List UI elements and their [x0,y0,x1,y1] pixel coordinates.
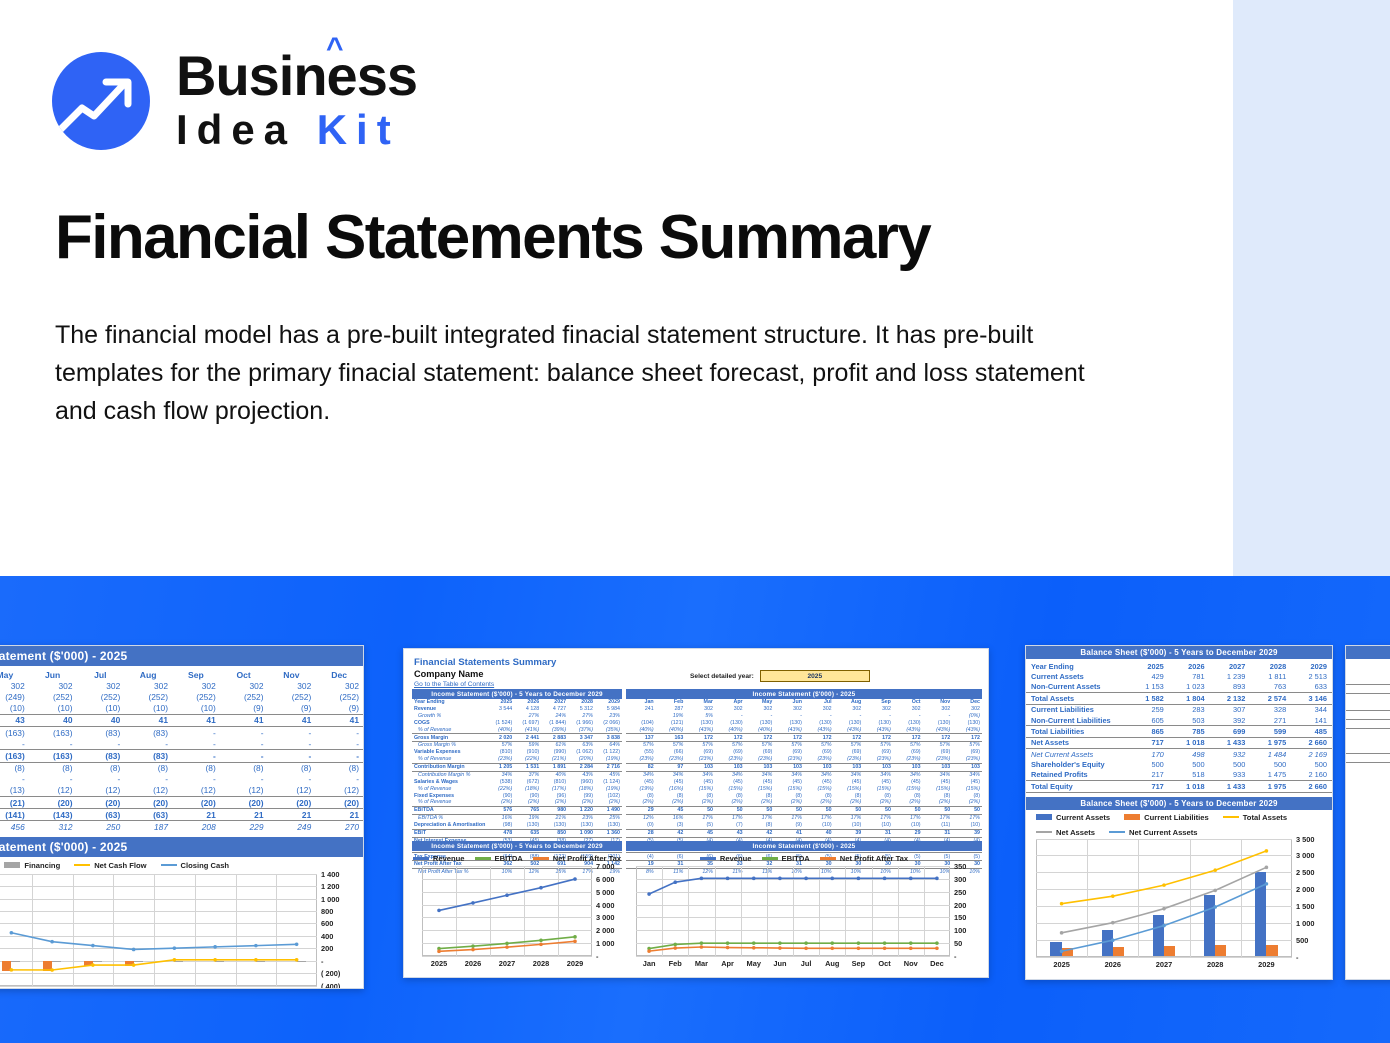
table-cell: 1 975 [1250,737,1291,748]
x-axis-tick: 2026 [1091,960,1135,969]
table-cell [626,713,656,720]
table-cell: - [0,774,29,785]
table-cell: (2%) [514,799,541,806]
income-statement-monthly-title: Income Statement ($'000) - 2025 [626,689,982,699]
balance-sheet-body: Current Assets4297811 2391 8112 513Non-C… [1026,671,1332,792]
table-cell: (10) [124,703,172,715]
table-cell: - [268,726,316,738]
table-row: Non-Current Liabilities605503392271141 [1026,715,1332,726]
table-cell: 23% [595,713,622,720]
y-axis-tick: 200 [321,944,333,953]
row-label: % of Revenue [412,786,487,793]
table-cell: 17% [893,815,923,822]
table-of-contents-link[interactable]: Go to the Table of Contents [414,681,988,688]
table-cell: (8) [952,792,982,799]
balance-sheet-partial-card[interactable]: Jan 1 1741241 297936927865121 0815001251… [1345,645,1390,980]
table-cell: 2 020 [487,734,514,742]
table-row: Gross Margin %57%59%61%63%64% [412,742,622,749]
table-cell: (35%) [595,727,622,734]
cash-flow-chart-plot: 1 4001 2001 000800600400200-( 200)( 400)… [0,874,317,986]
table-cell: 2 660 [1291,737,1332,748]
row-label: % of Revenue [412,727,487,734]
table-cell: 93 [1346,693,1390,701]
table-cell: 786 [1346,710,1390,719]
table-cell: (15%) [923,786,953,793]
table-cell: 1 205 [487,763,514,771]
income-statement-5y-chart-title: Income Statement ($'000) - 5 Years to De… [412,841,622,851]
table-cell: (19%) [595,756,622,763]
table-cell: (8) [0,762,29,774]
table-cell: (43%) [834,727,864,734]
table-cell: (5) [685,822,715,829]
balance-sheet-screenshot-card[interactable]: Balance Sheet ($'000) - 5 Years to Decem… [1025,645,1333,980]
table-cell: (20) [268,797,316,809]
table-cell: (37%) [568,727,595,734]
table-cell: 1 433 [1210,781,1251,792]
table-cell: (9) [220,703,268,715]
table-cell: (10) [29,703,77,715]
table-cell: 1 490 [595,807,622,815]
table-cell: (163) [29,726,77,738]
table-cell: (1 697) [514,720,541,727]
col-header-may: May [0,669,29,680]
table-cell: 865 [1128,726,1169,737]
income-statement-5y-title: Income Statement ($'000) - 5 Years to De… [412,689,622,699]
legend-label: Total Assets [1243,813,1287,822]
table-cell: 34% [834,771,864,778]
table-row: (8)(8)(8)(8)(8)(8)(8)(8) [0,762,363,774]
table-cell: 1 804 [1169,693,1210,704]
table-cell: (66) [656,749,686,756]
table-cell: (252) [172,691,220,702]
summary-header: Financial Statements Summary Company Nam… [404,649,988,688]
table-cell: (672) [514,779,541,786]
table-cell: 41 [220,714,268,726]
table-cell: (8) [804,792,834,799]
table-cell: - [804,713,834,720]
table-cell: (69) [804,749,834,756]
table-cell: 21 [315,809,363,821]
col-header-aug: Aug [124,669,172,680]
legend-item-current-liabilities: Current Liabilities [1124,813,1209,822]
table-cell: 3 838 [595,734,622,742]
table-cell: (130) [595,822,622,829]
table-cell: (2%) [715,799,745,806]
table-cell: (40%) [745,727,775,734]
y-axis-tick: 300 [954,875,966,884]
select-detailed-year-input[interactable]: 2025 [760,670,870,682]
table-cell: - [715,713,745,720]
table-cell: 57% [685,742,715,749]
table-row: (10)(10)(10)(10)(10)(9)(9)(9) [0,703,363,715]
table-cell: (8) [923,792,953,799]
col-header-sep: Sep [172,669,220,680]
table-cell: 2 574 [1250,693,1291,704]
table-cell: - [124,774,172,785]
table-cell: 1 531 [514,763,541,771]
col-header-oct: Oct [893,699,923,706]
table-cell: - [315,726,363,738]
brand-accent-caret: ^ [326,34,343,64]
table-cell: (10) [77,703,125,715]
table-cell: 2 441 [514,734,541,742]
balance-sheet-chart-legend: Current AssetsCurrent LiabilitiesTotal A… [1026,810,1332,838]
table-cell: (15%) [745,786,775,793]
table-cell: 103 [952,763,982,771]
table-cell: 1 023 [1169,682,1210,693]
table-cell: (45) [685,779,715,786]
table-cell: 45% [595,771,622,778]
hero-section: Business ^ Idea Kit Financial Statements… [0,0,1390,576]
table-cell: (1 122) [595,749,622,756]
x-axis-tick: 2027 [1142,960,1186,969]
hero-tint-panel [1233,0,1390,576]
table-row: (141)(143)(63)(63)21212121 [0,809,363,821]
table-cell: 503 [1169,715,1210,726]
table-cell: (130) [804,720,834,727]
gridline-h [636,956,950,957]
table-cell: (69) [863,749,893,756]
table-row: 124 [1346,676,1390,684]
table-cell: 34% [923,771,953,778]
brand-word-business: Business [176,44,417,107]
legend-item-ebitda: EBITDA [762,854,810,863]
table-cell: (23%) [745,756,775,763]
brand-name-line2: Idea Kit [176,106,417,154]
col-header-jun: Jun [774,699,804,706]
table-cell: (15%) [685,786,715,793]
table-cell: (12) [77,785,125,797]
x-axis-tick: 2029 [1244,960,1288,969]
table-cell: 50 [804,807,834,815]
table-cell: 34% [893,771,923,778]
table-cell: 302 [685,706,715,713]
table-cell: (8) [863,792,893,799]
table-cell: 172 [774,734,804,742]
table-row: Depreciation & Amortisation(98)(130)(130… [412,822,622,829]
table-cell: 763 [1250,682,1291,693]
table-cell: 34% [774,771,804,778]
y-axis-tick: 1 000 [1296,919,1315,928]
row-label: Non-Current Assets [1026,682,1128,693]
table-cell: 41 [124,714,172,726]
y-axis-tick: 1 400 [321,870,340,879]
table-cell: 21 [172,809,220,821]
table-cell: 781 [1169,671,1210,681]
table-cell: (83) [77,750,125,762]
table-cell: - [834,713,864,720]
table-row: (163)(163)(83)(83)---- [0,726,363,738]
table-row: COGS(1 524)(1 697)(1 844)(1 966)(2 066) [412,720,622,727]
row-label: Shareholder's Equity [1026,759,1128,769]
brand-name-line1: Business ^ [176,48,417,104]
table-cell: 3 347 [568,734,595,742]
table-cell: (20) [124,797,172,809]
y-axis-tick: 800 [321,907,333,916]
col-header-jan: Jan [626,699,656,706]
table-row: (249)(252)(252)(252)(252)(252)(252)(252) [0,691,363,702]
table-cell: (90) [487,792,514,799]
cash-flow-screenshot-card[interactable]: Cash Flow Statement ($'000) - 2025 May J… [0,645,364,989]
table-cell: 42 [656,829,686,837]
x-axis-tick: Dec [915,959,959,968]
table-cell: (252) [268,691,316,702]
table-cell: (130) [745,720,775,727]
row-label: Growth % [412,713,487,720]
table-row: 284245434241403931293139 [626,829,982,837]
table-cell: 27% [514,713,541,720]
table-cell: - [172,774,220,785]
table-cell: 41 [268,714,316,726]
table-cell: (102) [595,792,622,799]
table-cell: 34% [804,771,834,778]
table-cell: 312 [29,821,77,833]
table-cell: - [893,713,923,720]
table-cell: (15%) [863,786,893,793]
table-cell: (43%) [863,727,893,734]
col-header-jun: Jun [29,669,77,680]
table-cell: (69) [745,749,775,756]
table-cell: 2 660 [1291,781,1332,792]
legend-label: EBITDA [495,854,523,863]
table-cell: 500 [1128,759,1169,769]
balance-sheet-partial-table: Jan 1 1741241 297936927865121 0815001251… [1346,661,1390,763]
table-cell: (810) [487,749,514,756]
table-cell: (8) [315,762,363,774]
table-row: Current Liabilities259283307328344 [1026,704,1332,715]
table-cell: 302 [77,680,125,691]
table-cell: 57% [745,742,775,749]
table-cell: (69) [774,749,804,756]
table-cell: 5 312 [568,706,595,713]
table-cell: (8) [893,792,923,799]
table-cell: 302 [863,706,893,713]
table-cell: - [0,738,29,750]
table-cell: (40%) [626,727,656,734]
table-cell: (130) [541,822,568,829]
table-cell: (45) [893,779,923,786]
financial-summary-screenshot-card[interactable]: Financial Statements Summary Company Nam… [403,648,989,978]
balance-sheet-table: Year Ending 2025 2026 2027 2028 2029 Cur… [1026,661,1332,793]
table-cell: (45) [745,779,775,786]
table-cell: 31 [923,829,953,837]
row-label: Total Equity [1026,781,1128,792]
col-header-jan: Jan [1346,661,1390,668]
table-cell: (104) [626,720,656,727]
table-cell: (2%) [626,799,656,806]
table-cell: (9) [774,822,804,829]
table-cell: - [172,738,220,750]
table-cell: 103 [774,763,804,771]
table-row: Net Current Assets1704989321 4842 169 [1026,749,1332,760]
table-cell: 50 [715,807,745,815]
table-cell: (2%) [923,799,953,806]
table-cell: 287 [656,706,686,713]
table-cell: (141) [0,809,29,821]
table-cell: 1 081 [1346,728,1390,736]
row-label: Total Assets [1026,693,1128,704]
table-cell: 37% [514,771,541,778]
table-cell: (15%) [893,786,923,793]
table-cell: 302 [172,680,220,691]
table-cell: - [315,750,363,762]
legend-swatch [413,857,429,859]
table-cell: (69) [952,749,982,756]
table-cell: 302 [315,680,363,691]
table-cell: (8) [656,792,686,799]
col-header-2027: 2027 [541,699,568,706]
summary-title: Financial Statements Summary [414,657,988,668]
cash-flow-table: May Jun Jul Aug Sep Oct Nov Dec 30230230… [0,669,363,833]
legend-swatch [74,864,90,866]
table-row: (163)(163)(83)(83)---- [0,750,363,762]
table-cell: 34% [745,771,775,778]
table-cell: 633 [1291,682,1332,693]
table-row: 34%34%34%34%34%34%34%34%34%34%34%34% [626,771,982,778]
table-cell: 57% [834,742,864,749]
table-cell: (130) [863,720,893,727]
table-cell: 3 146 [1291,693,1332,704]
legend-label: Net Profit After Tax [840,854,908,863]
table-cell: 5 984 [595,706,622,713]
table-cell: (0%) [952,713,982,720]
table-cell: 31 [863,829,893,837]
table-cell: (249) [0,691,29,702]
col-header-2027: 2027 [1210,661,1251,671]
legend-swatch [1036,831,1052,833]
row-label: Salaries & Wages [412,779,487,786]
table-cell: 392 [1210,715,1251,726]
col-header-2026: 2026 [514,699,541,706]
table-cell: 1 484 [1250,749,1291,760]
table-cell: 40 [77,714,125,726]
y-axis-tick: 4 000 [596,901,615,910]
table-row: Non-Current Assets1 1531 023893763633 [1026,682,1332,693]
table-cell: 40% [541,771,568,778]
table-cell: 302 [0,680,29,691]
table-cell: (20) [220,797,268,809]
table-cell: (39%) [541,727,568,734]
table-row: 137163172172172172172172172172172172 [626,734,982,742]
legend-item-revenue: Revenue [700,854,752,863]
table-cell: (13) [0,785,29,797]
table-cell: (130) [685,720,715,727]
table-cell: (2 066) [595,720,622,727]
table-cell: (2%) [541,799,568,806]
table-row: (45)(45)(45)(45)(45)(45)(45)(45)(45)(45)… [626,779,982,786]
x-axis-tick: 2025 [1040,960,1084,969]
table-cell: 1 297 [1346,684,1390,693]
table-cell: (163) [0,750,29,762]
table-cell: (12) [268,785,316,797]
row-label: Contribution Margin % [412,771,487,778]
row-label: Retained Profits [1026,770,1128,781]
table-cell: 12% [626,815,656,822]
balance-sheet-partial-body: 1 1741241 297936927865121 08150012512 [1346,668,1390,762]
balance-sheet-chart-title: Balance Sheet ($'000) - 5 Years to Decem… [1026,797,1332,810]
table-cell: 302 [834,706,864,713]
table-cell: 241 [626,706,656,713]
table-cell: 23% [568,815,595,822]
table-cell: 429 [1128,671,1169,681]
table-cell: (45) [715,779,745,786]
table-cell: (20) [172,797,220,809]
table-cell: 103 [685,763,715,771]
legend-swatch [820,857,836,859]
table-cell: 34% [626,771,656,778]
y-axis-tick: - [321,957,323,966]
brand-word-kit: Kit [317,106,400,153]
table-cell: (252) [77,691,125,702]
table-cell: (121) [656,720,686,727]
select-detailed-year-control[interactable]: Select detailed year: 2025 [690,670,870,682]
table-cell: (19%) [626,786,656,793]
table-cell: (45) [923,779,953,786]
table-cell: (8) [745,822,775,829]
table-row: Current Assets4297811 2391 8112 513 [1026,671,1332,681]
table-row: 692 [1346,702,1390,710]
table-row: (40%)(40%)(43%)(40%)(40%)(43%)(43%)(43%)… [626,727,982,734]
table-cell: - [77,738,125,750]
table-cell: - [268,774,316,785]
y-axis-tick: 3 000 [1296,851,1315,860]
table-cell: (1 966) [568,720,595,727]
table-cell: (252) [124,691,172,702]
table-cell: 57% [774,742,804,749]
table-cell: (16%) [656,786,686,793]
table-cell: 302 [715,706,745,713]
table-cell: (22%) [487,786,514,793]
table-cell: 103 [893,763,923,771]
table-cell: (23%) [626,756,656,763]
table-cell: 1 360 [595,829,622,837]
table-cell: (23%) [715,756,745,763]
table-row: 786 [1346,710,1390,719]
table-cell: (2%) [745,799,775,806]
table-cell: (2%) [952,799,982,806]
table-cell: 5% [685,713,715,720]
gridline-h [0,986,317,987]
table-row: EBIT4786358501 0901 360 [412,829,622,837]
legend-item-current-assets: Current Assets [1036,813,1110,822]
col-header-2029: 2029 [595,699,622,706]
table-cell: (18%) [568,786,595,793]
table-row: 456312250187208229249270 [0,821,363,833]
table-cell: 34% [487,771,514,778]
table-cell: - [220,738,268,750]
table-cell: 25% [595,815,622,822]
table-cell: (98) [487,822,514,829]
table-cell: (2%) [487,799,514,806]
y-axis-tick: 500 [1296,936,1308,945]
table-row: 57%57%57%57%57%57%57%57%57%57%57%57% [626,742,982,749]
table-cell: - [923,713,953,720]
table-cell: (130) [834,720,864,727]
is5-chart-legend: RevenueEBITDANet Profit After Tax [412,851,622,865]
table-row: 294550505050505050505050 [626,807,982,815]
table-cell: 2 284 [568,763,595,771]
table-cell: (0) [626,822,656,829]
table-cell: (23%) [685,756,715,763]
table-cell: 271 [1250,715,1291,726]
table-cell: (8) [715,792,745,799]
table-cell: 34% [952,771,982,778]
table-cell: 500 [1291,759,1332,769]
table-cell: 692 [1346,702,1390,710]
table-cell: (143) [29,809,77,821]
table-cell: (69) [715,749,745,756]
table-cell: (9) [315,703,363,715]
